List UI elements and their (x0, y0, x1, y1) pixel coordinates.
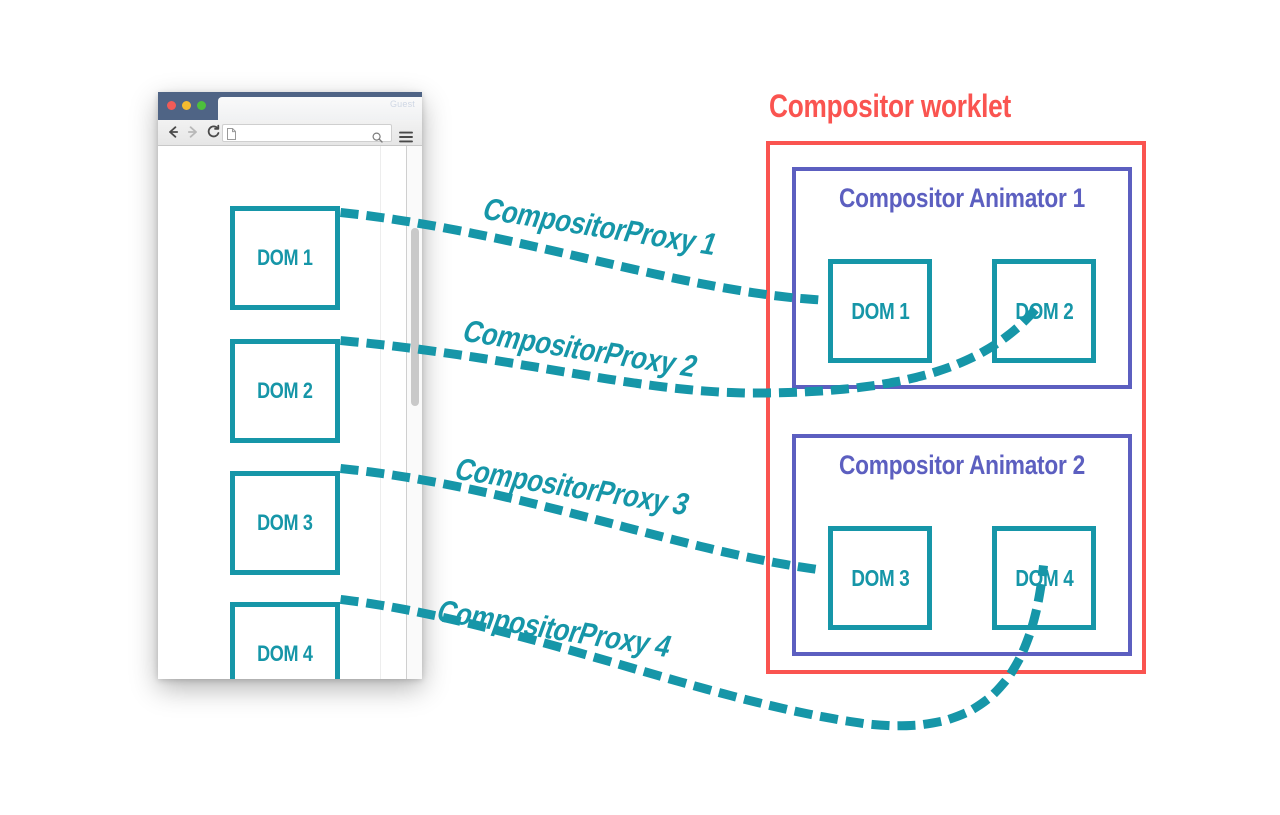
animator-2-dom-box-3[interactable]: DOM 3 (828, 526, 932, 630)
forward-arrow-icon[interactable] (186, 125, 200, 144)
animator-title: Compositor Animator 1 (823, 183, 1102, 214)
animator-1-dom-box-2[interactable]: DOM 2 (992, 259, 1096, 363)
page-dom-box-1[interactable]: DOM 1 (230, 206, 340, 310)
minimize-window-icon[interactable] (182, 101, 191, 110)
reload-icon[interactable] (206, 124, 221, 144)
dom-box-label: DOM 4 (1015, 565, 1073, 592)
profile-label[interactable]: Guest (390, 99, 415, 109)
animator-1-dom-box-1[interactable]: DOM 1 (828, 259, 932, 363)
window-controls[interactable] (167, 101, 206, 110)
page-dom-box-3[interactable]: DOM 3 (230, 471, 340, 575)
connector-label-proxy-1: CompositorProxy 1 (478, 192, 722, 263)
animator-title: Compositor Animator 2 (823, 450, 1102, 481)
browser-toolbar (158, 120, 422, 146)
close-window-icon[interactable] (167, 101, 176, 110)
compositor-animator-1[interactable]: Compositor Animator 1 DOM 1 DOM 2 (792, 167, 1132, 389)
connector-label-proxy-4: CompositorProxy 4 (432, 594, 676, 665)
dom-box-label: DOM 1 (257, 245, 313, 271)
compositor-animator-2[interactable]: Compositor Animator 2 DOM 3 DOM 4 (792, 434, 1132, 656)
dom-box-label: DOM 2 (257, 378, 313, 404)
dom-box-label: DOM 2 (1015, 298, 1073, 325)
page-dom-box-4[interactable]: DOM 4 (230, 602, 340, 679)
browser-viewport: DOM 1 DOM 2 DOM 3 DOM 4 (158, 146, 422, 679)
scrollbar-thumb[interactable] (411, 228, 419, 406)
dom-box-label: DOM 3 (851, 565, 909, 592)
connector-label-proxy-3: CompositorProxy 3 (450, 452, 694, 523)
page-icon (227, 127, 236, 145)
diagram-canvas: × Guest (0, 0, 1280, 815)
page-dom-box-2[interactable]: DOM 2 (230, 339, 340, 443)
url-bar[interactable] (222, 124, 392, 142)
worklet-title: Compositor worklet (769, 88, 1011, 125)
dom-box-label: DOM 4 (257, 641, 313, 667)
browser-window: × Guest (158, 92, 422, 678)
animator-2-dom-box-4[interactable]: DOM 4 (992, 526, 1096, 630)
back-arrow-icon[interactable] (166, 125, 180, 144)
connector-label-proxy-2: CompositorProxy 2 (458, 314, 702, 385)
vertical-scrollbar[interactable] (406, 146, 422, 679)
browser-titlebar: × Guest (158, 92, 422, 120)
dom-box-label: DOM 3 (257, 510, 313, 536)
maximize-window-icon[interactable] (197, 101, 206, 110)
dom-box-label: DOM 1 (851, 298, 909, 325)
